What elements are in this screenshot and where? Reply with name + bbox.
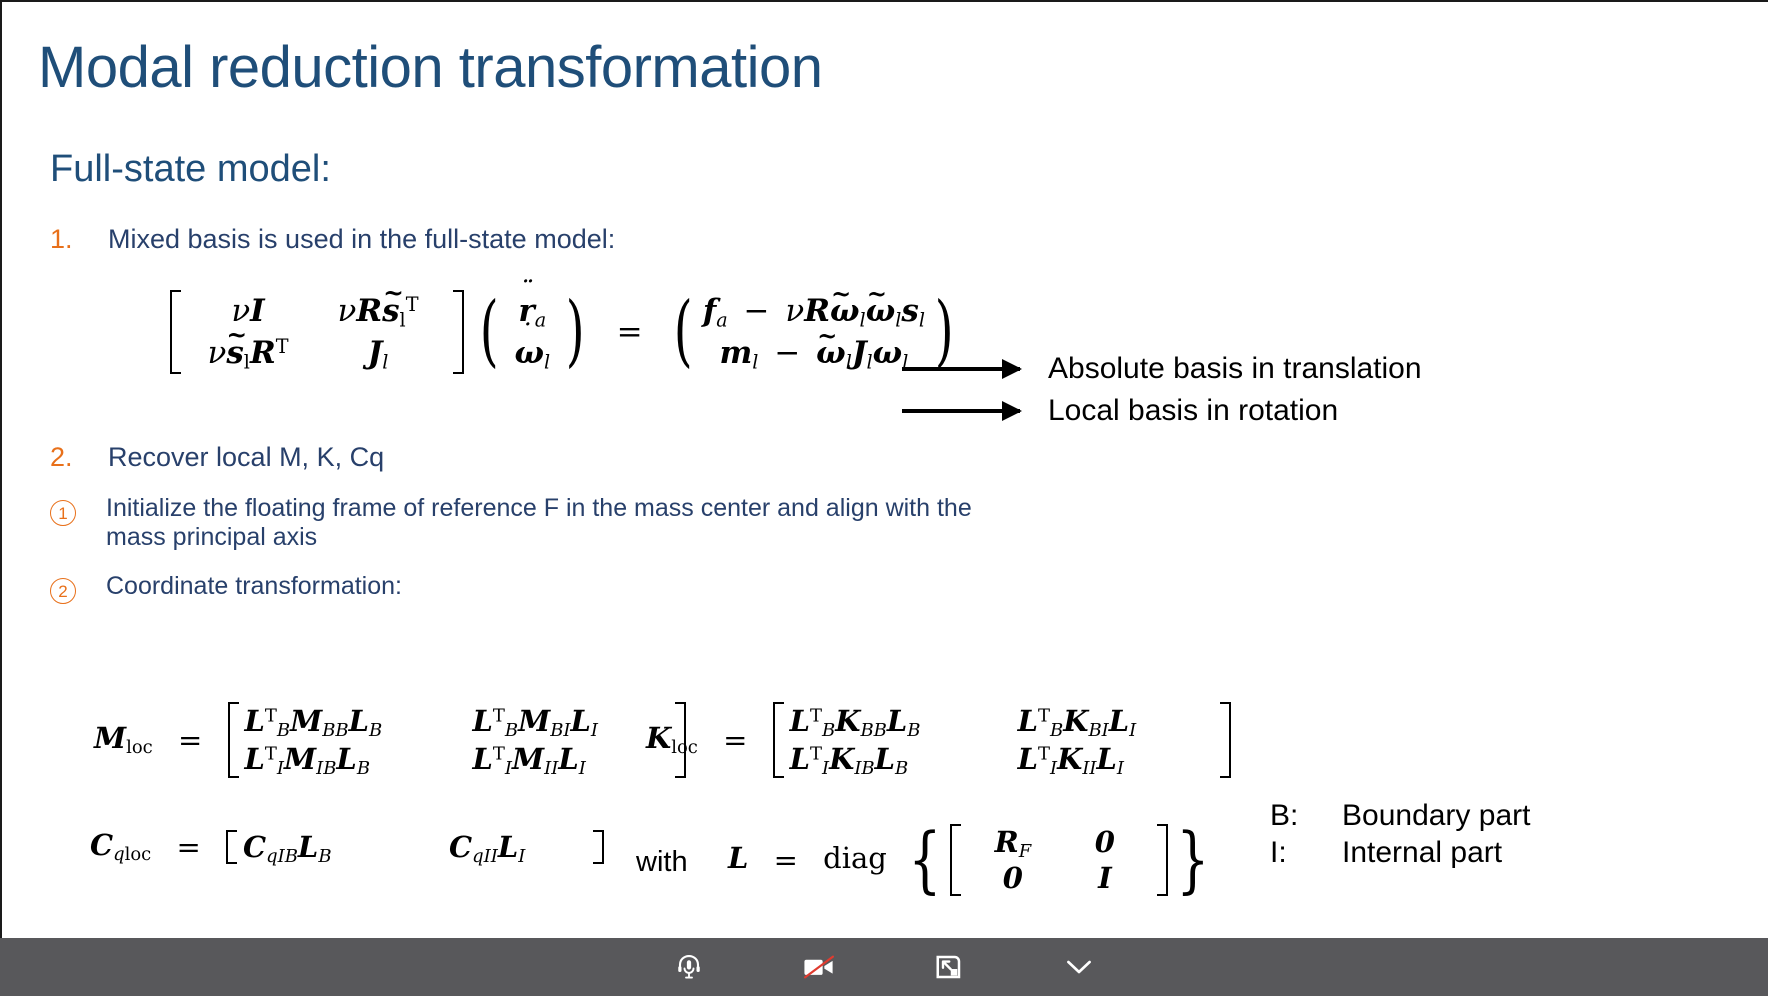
diag-operator: diag (823, 841, 887, 875)
list-item-2: 2. Recover local M, K, Cq (50, 442, 384, 473)
equation-stiffness-matrix: Kloc = LTBKBBLBLTBKBILI LTIKIBLBLTIKIILI (646, 702, 1231, 778)
page-title: Modal reduction transformation (38, 34, 823, 101)
camera-off-icon[interactable] (796, 946, 842, 988)
legend-row-boundary: B: Boundary part (1270, 798, 1530, 835)
list-text-2: Recover local M, K, Cq (108, 442, 384, 472)
equals-sign: = (601, 314, 659, 350)
vector-acceleration: ( ¨ra ˙ωl ) (474, 290, 591, 374)
circled-number-1: 1 (50, 494, 106, 526)
arrow-label-rotation: Local basis in rotation (1048, 394, 1338, 428)
sub-list-text-2: Coordinate transformation: (106, 572, 402, 601)
sub-list-item-1: 1 Initialize the floating frame of refer… (50, 494, 986, 553)
arrow-label-translation: Absolute basis in translation (1048, 352, 1422, 386)
equation-constraint-jacobian: Cqloc = CqIBLBCqIILI (90, 828, 604, 864)
equation-L-definition: L = diag { RF0 0I } (728, 824, 1216, 896)
legend-value-B: Boundary part (1342, 798, 1530, 835)
list-text-1: Mixed basis is used in the full-state mo… (108, 224, 615, 254)
chevron-down-icon[interactable] (1056, 946, 1102, 988)
legend-value-I: Internal part (1342, 835, 1502, 872)
equation-mass-matrix: Mloc = LTBMBBLBLTBMBILI LTIMIBLBLTIMIILI (94, 702, 686, 778)
circled-number-2: 2 (50, 572, 106, 604)
share-screen-icon[interactable] (926, 946, 972, 988)
sub-list-text-1: Initialize the floating frame of referen… (106, 494, 986, 553)
list-marker-1: 1. (50, 224, 108, 255)
callout-arrow-translation: Absolute basis in translation (902, 352, 1422, 386)
legend-part-definitions: B: Boundary part I: Internal part (1270, 798, 1530, 871)
legend-row-internal: I: Internal part (1270, 835, 1530, 872)
list-marker-2: 2. (50, 442, 108, 473)
sub-list-item-2: 2 Coordinate transformation: (50, 572, 402, 604)
meeting-toolbar (0, 938, 1768, 996)
callout-arrow-rotation: Local basis in rotation (902, 394, 1338, 428)
section-subtitle: Full-state model: (50, 148, 331, 191)
legend-key-B: B: (1270, 798, 1342, 835)
arrow-right-icon (902, 409, 1020, 413)
slide-canvas: Modal reduction transformation Full-stat… (2, 2, 1768, 938)
legend-key-I: I: (1270, 835, 1342, 872)
arrow-right-icon (902, 367, 1020, 371)
list-item-1: 1. Mixed basis is used in the full-state… (50, 224, 615, 255)
equation-full-state: νIνR~slT ν~slRTJl ( ¨ra ˙ωl ) = ( (170, 290, 959, 374)
headset-mic-icon[interactable] (666, 946, 712, 988)
matrix-coefficient: νIνR~slT ν~slRTJl (170, 290, 464, 374)
with-label: with (636, 846, 688, 879)
presentation-window: Modal reduction transformation Full-stat… (0, 0, 1768, 996)
